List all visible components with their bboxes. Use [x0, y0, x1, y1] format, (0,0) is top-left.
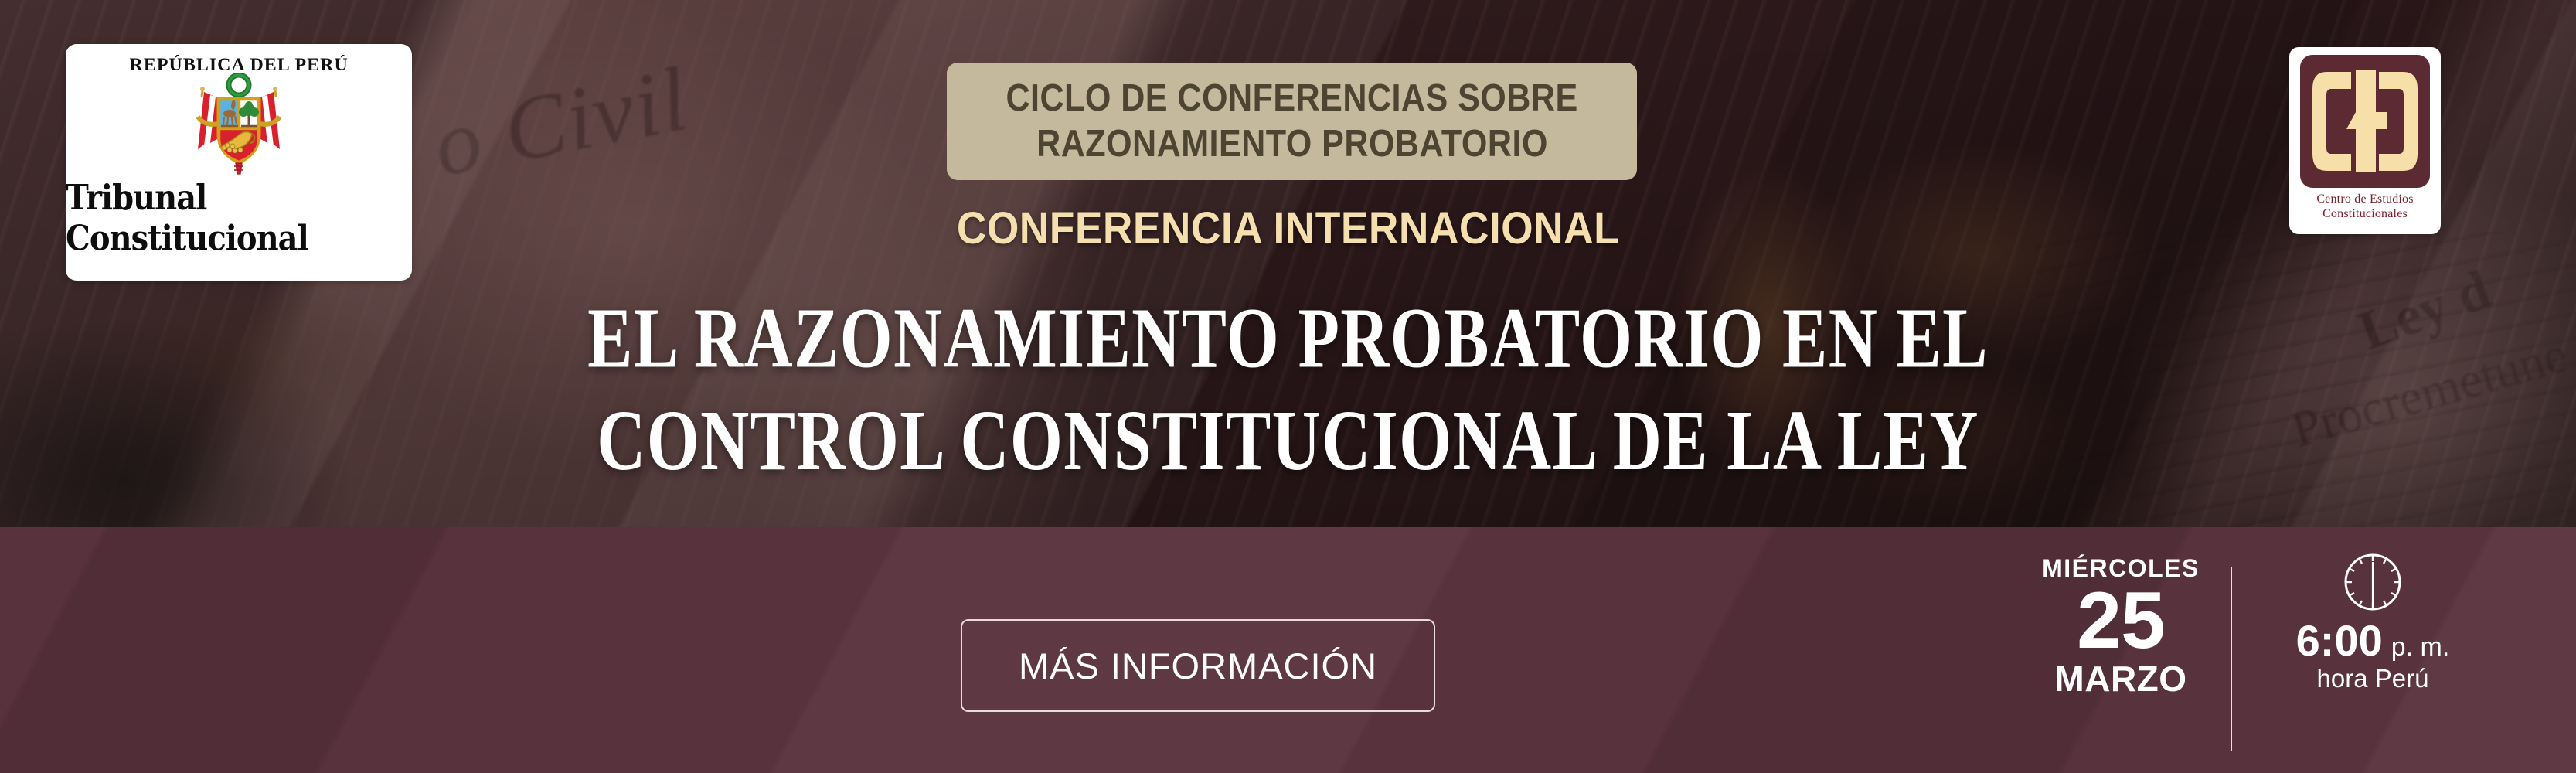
- page-title: EL RAZONAMIENTO PROBATORIO EN EL CONTROL…: [90, 288, 2486, 492]
- republica-del-peru-arc-label: REPÚBLICA DEL PERÚ: [129, 55, 348, 75]
- event-time: 6:00 p. m. hora Perú: [2257, 549, 2489, 693]
- event-meridiem: p. m.: [2391, 633, 2450, 661]
- ciclo-badge-line1: CICLO DE CONFERENCIAS SOBRE: [1006, 76, 1577, 121]
- date-time-divider: [2231, 567, 2232, 751]
- event-timezone: hora Perú: [2257, 664, 2489, 693]
- centro-estudios-constitucionales-logo-card: Centro de Estudios Constitucionales: [2289, 47, 2441, 234]
- event-time-row: 6:00 p. m.: [2257, 618, 2489, 663]
- tribunal-constitucional-wordmark: Tribunal Constitucional: [66, 177, 412, 258]
- cec-brackets-glyph: [2300, 55, 2430, 188]
- event-month: MARZO: [2020, 660, 2221, 697]
- event-date: MIÉRCOLES 25 MARZO: [2020, 555, 2221, 697]
- conference-banner: o Civil Ley d Procremetune REPÚBLICA DEL…: [0, 0, 2576, 773]
- clock-icon-wrap: [2257, 549, 2489, 615]
- peru-coat-of-arms-icon: [181, 73, 297, 180]
- conferencia-internacional-kicker: CONFERENCIA INTERNACIONAL: [103, 203, 2472, 254]
- cec-monogram-icon: [2300, 55, 2430, 188]
- mas-informacion-button[interactable]: MÁS INFORMACIÓN: [961, 619, 1435, 712]
- clock-icon: [2339, 549, 2406, 615]
- ciclo-de-conferencias-badge: CICLO DE CONFERENCIAS SOBRE RAZONAMIENTO…: [947, 63, 1637, 180]
- event-day: 25: [2020, 581, 2221, 660]
- event-hour: 6:00: [2296, 618, 2383, 663]
- cec-wordmark-line1: Centro de Estudios: [2316, 192, 2413, 206]
- page-title-line2: CONTROL CONSTITUCIONAL DE LA LEY: [90, 390, 2486, 492]
- cec-wordmark-line2: Constitucionales: [2316, 206, 2413, 221]
- ciclo-badge-line2: RAZONAMIENTO PROBATORIO: [1036, 121, 1548, 167]
- tribunal-constitucional-logo-card: REPÚBLICA DEL PERÚ: [66, 44, 412, 281]
- page-title-line1: EL RAZONAMIENTO PROBATORIO EN EL: [90, 288, 2486, 390]
- cec-wordmark: Centro de Estudios Constitucionales: [2316, 192, 2413, 221]
